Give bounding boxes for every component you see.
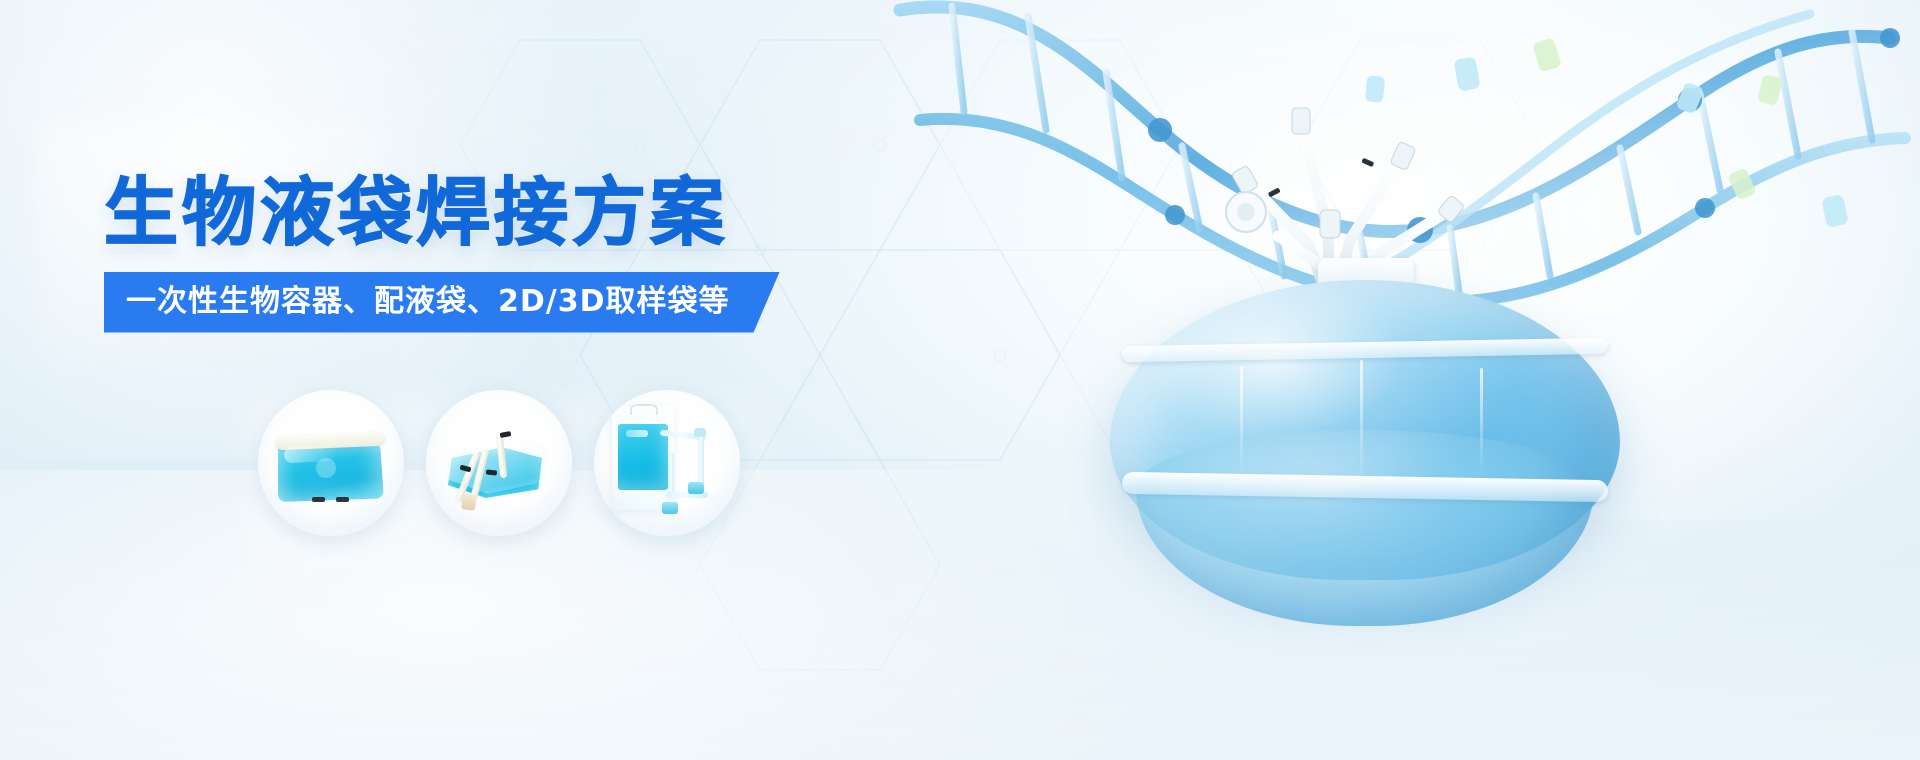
hero-artwork	[860, 0, 1920, 760]
product-thumbnail-3[interactable]	[594, 390, 740, 536]
subtitle-banner: 一次性生物容器、配液袋、2D/3D取样袋等	[104, 272, 780, 333]
product-thumbnail-1[interactable]	[258, 390, 404, 536]
product-thumbnail-row	[258, 390, 740, 536]
bioprocess-bag	[1110, 280, 1620, 610]
bio-container-bag-icon	[274, 430, 386, 504]
sampling-bag-icon	[610, 406, 724, 520]
subtitle-text: 一次性生物容器、配液袋、2D/3D取样袋等	[126, 283, 730, 321]
bag-lower-lobe	[1136, 430, 1594, 626]
bag-ridge	[1360, 360, 1363, 480]
page-title: 生物液袋焊接方案	[104, 176, 780, 250]
bag-ridge	[1480, 368, 1483, 474]
subtitle-wrapper: 一次性生物容器、配液袋、2D/3D取样袋等	[104, 272, 780, 333]
bag-ridge	[1240, 366, 1243, 476]
product-thumbnail-2[interactable]	[426, 390, 572, 536]
liquid-prep-bag-icon	[440, 424, 558, 510]
headline-block: 生物液袋焊接方案 一次性生物容器、配液袋、2D/3D取样袋等	[104, 176, 780, 333]
banner-root: 生物液袋焊接方案 一次性生物容器、配液袋、2D/3D取样袋等	[0, 0, 1920, 760]
